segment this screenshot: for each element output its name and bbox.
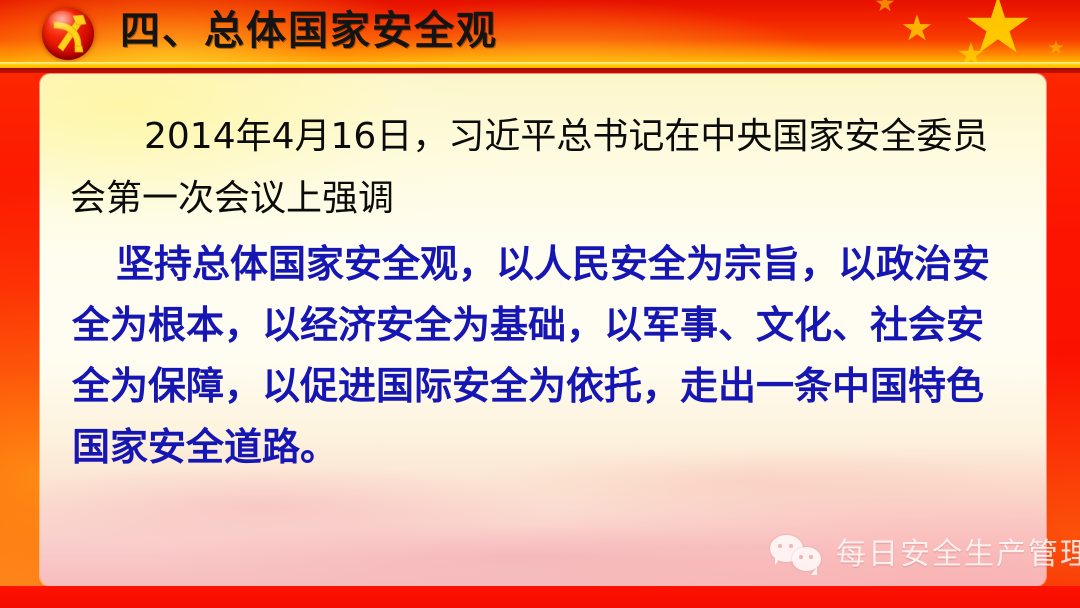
star-icon [958, 42, 984, 64]
wechat-eye-dot [789, 544, 793, 548]
page-title: 四、总体国家安全观 [120, 5, 498, 57]
wechat-eye-dot [778, 544, 782, 548]
footer-strip [0, 586, 1080, 608]
header-bar: 四、总体国家安全观 [0, 0, 1080, 64]
content-panel: 2014年4月16日，习近平总书记在中央国家安全委员会第一次会议上强调 坚持总体… [40, 74, 1046, 586]
emblem-gloss [47, 11, 78, 31]
star-icon [875, 0, 895, 13]
intro-paragraph: 2014年4月16日，习近平总书记在中央国家安全委员会第一次会议上强调 [70, 106, 1015, 230]
wechat-bubble-tail [775, 557, 781, 565]
slide-root: 四、总体国家安全观 2014年4月16日，习近平总书记在中央国家安全委员会第一次… [0, 0, 1080, 608]
star-icon [1048, 40, 1064, 55]
wechat-eye-dot [799, 555, 803, 559]
quote-paragraph: 坚持总体国家安全观，以人民安全为宗旨，以政治安全为根本，以经济安全为基础，以军事… [72, 234, 1020, 478]
wechat-account-name: 每日安全生产管理 [836, 535, 1080, 575]
ccp-party-emblem-hammer-sickle-icon [42, 8, 94, 60]
header-stars-decoration [780, 0, 1080, 64]
star-icon [902, 14, 932, 43]
wechat-eye-dot [809, 555, 813, 559]
wechat-watermark: 每日安全生产管理 [770, 535, 1080, 575]
header-dark-divider [0, 68, 1080, 73]
wechat-logo-icon [770, 535, 826, 575]
wechat-bubble-tail [811, 567, 817, 575]
star-icon [966, 0, 1030, 58]
